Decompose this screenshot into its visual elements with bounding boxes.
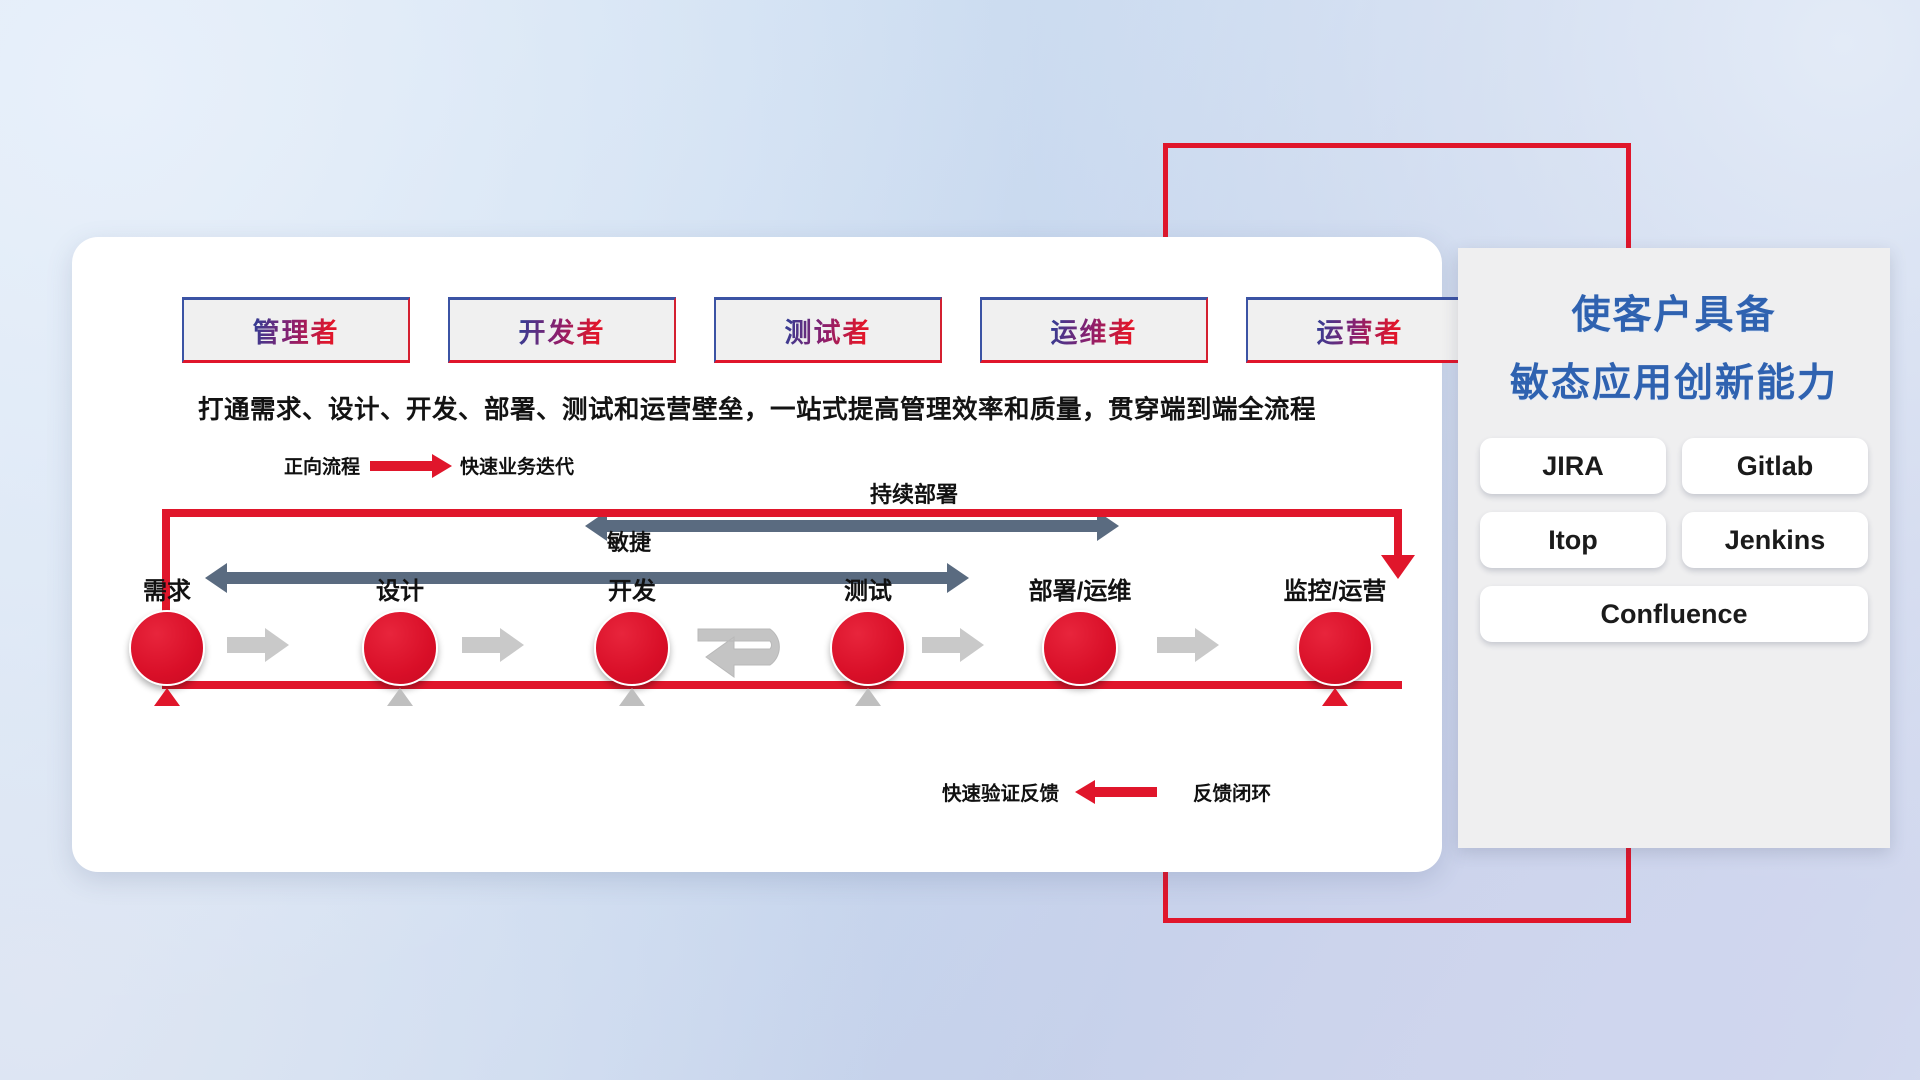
main-card: 管理者 开发者 测试者 运维者 运营者 打通需求、设计、开发、部署、测试和运营壁… <box>72 237 1442 872</box>
red-arrow-right-icon <box>370 461 432 471</box>
stage-connector-triangle <box>154 688 180 706</box>
outer-red-bracket-bottom <box>1163 918 1631 923</box>
stage-circle <box>830 610 906 686</box>
stage-label: 监控/运营 <box>1275 571 1395 606</box>
tool-chip-itop[interactable]: Itop <box>1480 512 1666 568</box>
stage-label: 部署/运维 <box>1020 571 1140 606</box>
description-text: 打通需求、设计、开发、部署、测试和运营壁垒，一站式提高管理效率和质量，贯穿端到端… <box>122 389 1392 426</box>
stage-development[interactable]: 开发 <box>572 571 692 706</box>
legend-forward-flow: 正向流程 快速业务迭代 <box>284 452 574 479</box>
tool-chip-gitlab[interactable]: Gitlab <box>1682 438 1868 494</box>
slide-canvas: 管理者 开发者 测试者 运维者 运营者 打通需求、设计、开发、部署、测试和运营壁… <box>0 0 1920 1080</box>
flow-arrow-3-icon <box>922 632 984 658</box>
feedback-loop-top <box>162 509 1402 517</box>
span-label-agile: 敏捷 <box>607 525 651 557</box>
span-label-continuous-deployment: 持续部署 <box>870 477 958 509</box>
legend-feedback-loop: 快速验证反馈 反馈闭环 <box>942 777 1271 806</box>
stage-deploy-ops[interactable]: 部署/运维 <box>1020 571 1140 686</box>
tool-chip-list: JIRA Gitlab Itop Jenkins Confluence <box>1480 438 1868 642</box>
role-box-developer[interactable]: 开发者 <box>448 297 676 363</box>
red-arrow-left-icon <box>1095 787 1157 797</box>
stage-requirement[interactable]: 需求 <box>107 571 227 706</box>
panel-title-line-1: 使客户具备 <box>1458 284 1890 340</box>
stage-connector-triangle <box>1322 688 1348 706</box>
stage-circle <box>362 610 438 686</box>
role-box-operations[interactable]: 运营者 <box>1246 297 1474 363</box>
role-label: 管理者 <box>253 311 340 350</box>
stage-testing[interactable]: 测试 <box>808 571 928 706</box>
role-box-ops[interactable]: 运维者 <box>980 297 1208 363</box>
tool-chip-jira[interactable]: JIRA <box>1480 438 1666 494</box>
role-label: 运维者 <box>1051 311 1138 350</box>
panel-title: 使客户具备 敏态应用创新能力 <box>1458 284 1890 408</box>
role-boxes: 管理者 开发者 测试者 运维者 运营者 <box>182 297 1474 363</box>
stage-connector-triangle <box>855 688 881 706</box>
role-label: 测试者 <box>785 311 872 350</box>
role-box-manager[interactable]: 管理者 <box>182 297 410 363</box>
stage-connector-triangle <box>619 688 645 706</box>
stage-connector-triangle <box>387 688 413 706</box>
stage-monitor-operations[interactable]: 监控/运营 <box>1275 571 1395 706</box>
stage-label: 测试 <box>808 571 928 606</box>
right-panel: 使客户具备 敏态应用创新能力 JIRA Gitlab Itop Jenkins … <box>1458 248 1890 848</box>
panel-title-line-2: 敏态应用创新能力 <box>1458 352 1890 408</box>
legend-feedback-left-label: 快速验证反馈 <box>942 777 1059 806</box>
stage-circle <box>1042 610 1118 686</box>
loop-back-arrow-icon <box>692 615 812 693</box>
stage-circle <box>1297 610 1373 686</box>
flow-arrow-2-icon <box>462 632 524 658</box>
flow-arrow-1-icon <box>227 632 289 658</box>
role-box-tester[interactable]: 测试者 <box>714 297 942 363</box>
legend-forward-left-label: 正向流程 <box>284 452 360 479</box>
legend-forward-right-label: 快速业务迭代 <box>460 452 574 479</box>
tool-chip-jenkins[interactable]: Jenkins <box>1682 512 1868 568</box>
role-label: 开发者 <box>519 311 606 350</box>
flow-arrow-4-icon <box>1157 632 1219 658</box>
stage-label: 开发 <box>572 571 692 606</box>
tool-chip-confluence[interactable]: Confluence <box>1480 586 1868 642</box>
role-label: 运营者 <box>1317 311 1404 350</box>
stage-circle <box>129 610 205 686</box>
stage-label: 需求 <box>107 571 227 606</box>
legend-feedback-right-label: 反馈闭环 <box>1193 777 1271 806</box>
feedback-loop-right <box>1394 509 1402 557</box>
stage-circle <box>594 610 670 686</box>
stage-design[interactable]: 设计 <box>340 571 460 706</box>
stage-label: 设计 <box>340 571 460 606</box>
span-arrow-continuous-deployment <box>607 520 1097 532</box>
